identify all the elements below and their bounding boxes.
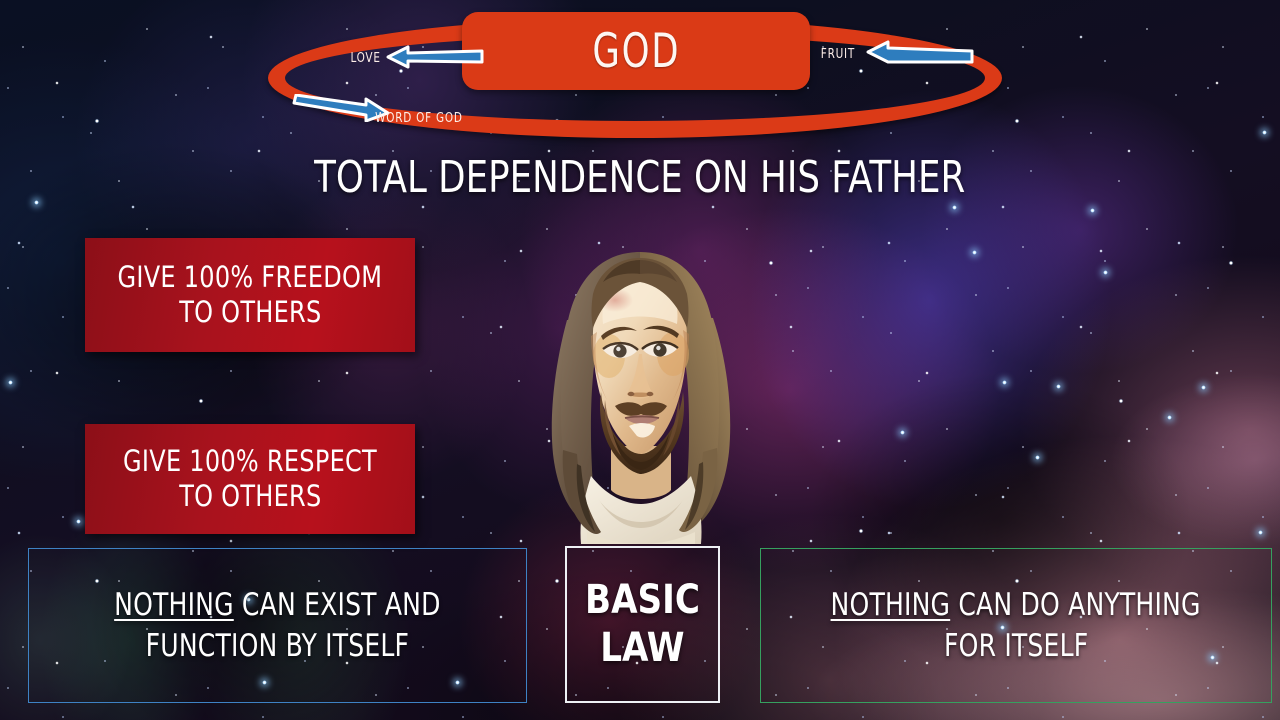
statement-exist-line2: FUNCTION BY ITSELF xyxy=(146,626,410,666)
bright-star-icon xyxy=(900,430,905,435)
callout-give-freedom: GIVE 100% FREEDOM TO OTHERS xyxy=(85,238,415,352)
bright-star-icon xyxy=(1258,530,1263,535)
bright-star-icon xyxy=(1002,380,1007,385)
bright-star-icon xyxy=(1056,384,1061,389)
god-label-box: GOD xyxy=(462,12,810,90)
cycle-label-love: LOVE xyxy=(350,50,380,66)
bright-star-icon xyxy=(1090,208,1095,213)
bright-star-icon xyxy=(1201,385,1206,390)
bright-star-icon xyxy=(76,519,81,524)
basic-law-line2: LAW xyxy=(600,625,684,672)
statement-do-line2: FOR ITSELF xyxy=(944,626,1088,666)
callout-freedom-line1: GIVE 100% FREEDOM xyxy=(118,260,383,295)
statement-box-exist: NOTHING CAN EXIST AND FUNCTION BY ITSELF xyxy=(28,548,527,703)
bright-star-icon xyxy=(1167,415,1172,420)
page-title: TOTAL DEPENDENCE ON HIS FATHER xyxy=(0,152,1280,203)
page-title-text: TOTAL DEPENDENCE ON HIS FATHER xyxy=(314,152,965,203)
callout-respect-line1: GIVE 100% RESPECT xyxy=(123,444,377,479)
statement-exist-line1-rest: CAN EXIST AND xyxy=(234,587,441,623)
statement-do-emphasis: NOTHING xyxy=(831,587,951,623)
bright-star-icon xyxy=(8,380,13,385)
bright-star-icon xyxy=(1103,270,1108,275)
basic-law-line1-wrap: BASIC xyxy=(582,577,703,624)
statement-do-line1-rest: CAN DO ANYTHING xyxy=(951,587,1201,623)
basic-law-line1: BASIC xyxy=(585,577,700,624)
jesus-portrait-image xyxy=(505,214,775,544)
arrow-left-love-icon xyxy=(386,44,484,70)
bright-star-icon xyxy=(1035,455,1040,460)
god-label-text: GOD xyxy=(592,24,680,79)
callout-respect-line2: TO OTHERS xyxy=(179,479,321,514)
cycle-label-fruit: FRUIT xyxy=(821,46,855,62)
god-cycle-diagram: GOD LOVE FRUIT WORD OF GOD xyxy=(268,18,1002,138)
bright-star-icon xyxy=(1262,130,1267,135)
arrow-left-fruit-icon xyxy=(866,40,974,66)
callout-give-respect: GIVE 100% RESPECT TO OTHERS xyxy=(85,424,415,534)
statement-exist-line2-wrap: FUNCTION BY ITSELF xyxy=(131,626,424,666)
bright-star-icon xyxy=(952,205,957,210)
statement-exist-line1: NOTHING CAN EXIST AND xyxy=(96,585,459,625)
statement-box-do: NOTHING CAN DO ANYTHING FOR ITSELF xyxy=(760,548,1272,703)
statement-do-line1: NOTHING CAN DO ANYTHING xyxy=(810,585,1221,625)
basic-law-box: BASIC LAW xyxy=(565,546,720,703)
statement-exist-emphasis: NOTHING xyxy=(114,587,234,623)
cycle-label-word-of-god: WORD OF GOD xyxy=(375,110,463,126)
callout-freedom-line2: TO OTHERS xyxy=(179,295,321,330)
basic-law-line2-wrap: LAW xyxy=(598,625,687,672)
statement-do-line2-wrap: FOR ITSELF xyxy=(936,626,1096,666)
slide-canvas: GOD LOVE FRUIT WORD OF GOD TOTAL DEPENDE… xyxy=(0,0,1280,720)
bright-star-icon xyxy=(972,250,977,255)
